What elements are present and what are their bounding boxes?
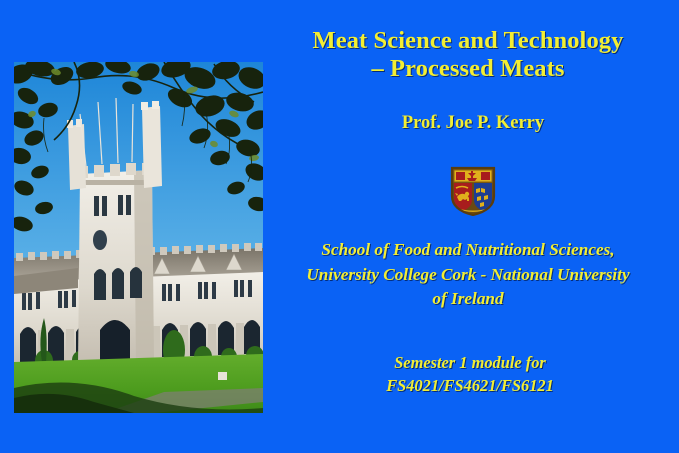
- coat-of-arms-artwork: [450, 166, 496, 216]
- university-college-cork-quadrangle-photo: [14, 62, 263, 413]
- presenter-name: Prof. Joe P. Kerry: [288, 113, 658, 134]
- slide-title: Meat Science and Technology – Processed …: [268, 27, 668, 84]
- presentation-title-slide: Meat Science and Technology – Processed …: [0, 0, 679, 453]
- ucc-coat-of-arms-icon: [450, 166, 496, 216]
- photo-artwork: [14, 62, 263, 413]
- module-codes: Semester 1 module for FS4021/FS4621/FS61…: [300, 352, 640, 397]
- school-and-university: School of Food and Nutritional Sciences,…: [262, 238, 674, 312]
